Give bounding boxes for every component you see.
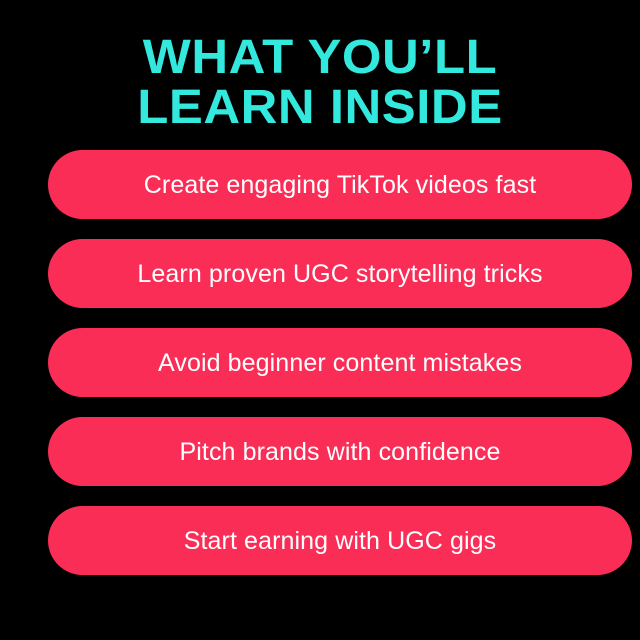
benefit-label-5: Start earning with UGC gigs: [184, 526, 497, 556]
benefit-pill-4[interactable]: Pitch brands with confidence: [48, 417, 632, 486]
heading-line-2: LEARN INSIDE: [0, 86, 640, 130]
benefit-label-4: Pitch brands with confidence: [179, 437, 500, 467]
benefit-label-2: Learn proven UGC storytelling tricks: [137, 259, 542, 289]
promo-poster: WHAT YOU’LL LEARN INSIDE Create engaging…: [0, 0, 640, 640]
benefit-pill-5[interactable]: Start earning with UGC gigs: [48, 506, 632, 575]
benefit-pill-1[interactable]: Create engaging TikTok videos fast: [48, 150, 632, 219]
benefit-label-1: Create engaging TikTok videos fast: [144, 170, 537, 200]
page-title: WHAT YOU’LL LEARN INSIDE: [0, 36, 640, 130]
benefit-list: Create engaging TikTok videos fast Learn…: [48, 150, 632, 575]
benefit-pill-3[interactable]: Avoid beginner content mistakes: [48, 328, 632, 397]
benefit-pill-2[interactable]: Learn proven UGC storytelling tricks: [48, 239, 632, 308]
heading-line-1: WHAT YOU’LL: [0, 36, 640, 80]
benefit-label-3: Avoid beginner content mistakes: [158, 348, 522, 378]
